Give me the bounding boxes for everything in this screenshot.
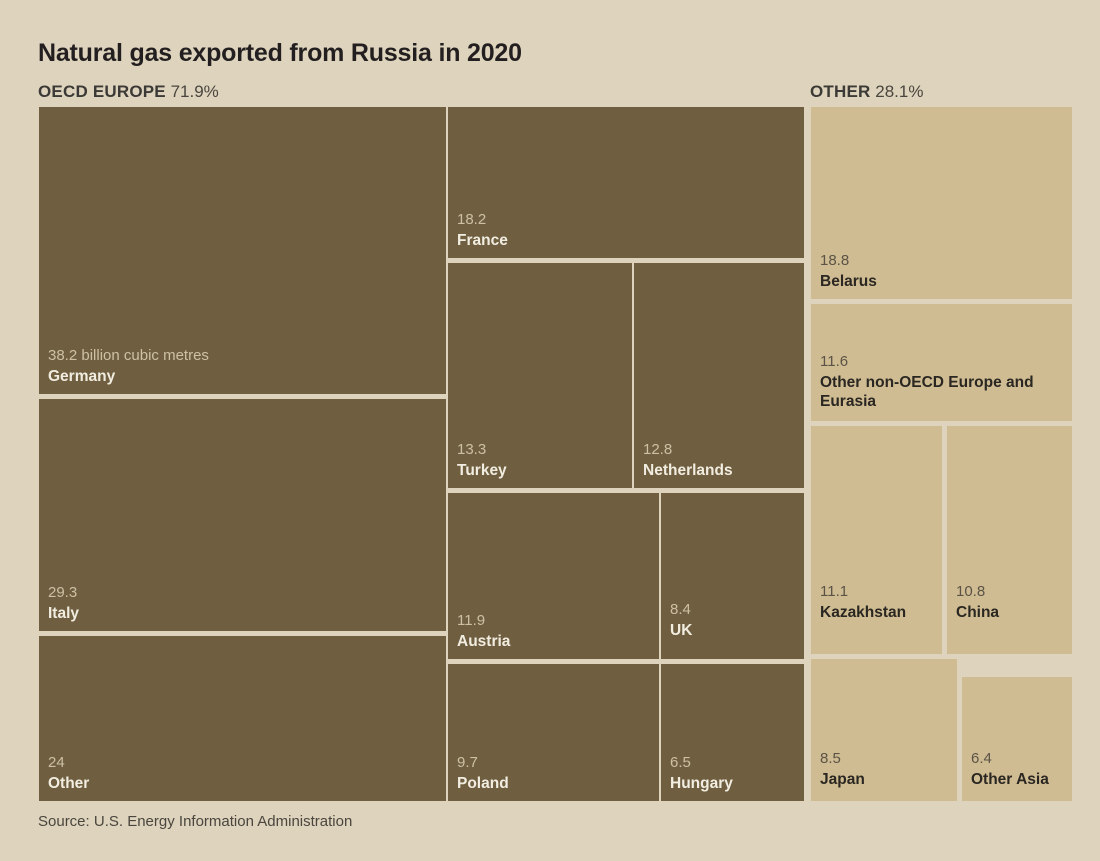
tile-name: UK [670,621,800,640]
tile-value: 10.8 [956,583,1068,602]
treemap-tile-kazakhstan[interactable]: 11.1 Kazakhstan [810,425,943,655]
treemap-tile-other-oecd-europe[interactable]: 24 Other [38,635,447,802]
treemap-tile-other-asia[interactable]: 6.4 Other Asia [961,676,1073,802]
source-note: Source: U.S. Energy Information Administ… [38,813,352,830]
treemap-tile-japan[interactable]: 8.5 Japan [810,658,958,802]
tile-value: 9.7 [457,754,655,773]
treemap-tile-other-non-oecd-europe-and-eurasia[interactable]: 11.6 Other non-OECD Europe and Eurasia [810,303,1073,422]
section-name-other: OTHER [810,82,871,101]
treemap-tile-turkey[interactable]: 13.3 Turkey [447,262,633,489]
tile-value: 11.6 [820,353,1068,372]
treemap-oecd-europe: 38.2 billion cubic metres Germany 29.3 I… [38,106,805,802]
tile-value: 8.5 [820,750,953,769]
tile-value: 6.4 [971,750,1068,769]
section-header-other: OTHER 28.1% [810,82,923,102]
tile-label-group: 11.6 Other non-OECD Europe and Eurasia [820,353,1068,411]
tile-value: 6.5 [670,754,800,773]
tile-name: France [457,231,800,250]
tile-value: 38.2 billion cubic metres [48,347,442,366]
tile-label-group: 13.3 Turkey [457,441,628,480]
tile-label-group: 11.1 Kazakhstan [820,583,938,622]
treemap-tile-uk[interactable]: 8.4 UK [660,492,805,660]
tile-name: Poland [457,774,655,793]
section-header-oecd-europe: OECD EUROPE 71.9% [38,82,219,102]
tile-value: 13.3 [457,441,628,460]
tile-name: Belarus [820,272,1068,291]
treemap-tile-italy[interactable]: 29.3 Italy [38,398,447,632]
tile-label-group: 24 Other [48,754,442,793]
tile-value: 18.2 [457,211,800,230]
treemap-tile-belarus[interactable]: 18.8 Belarus [810,106,1073,300]
tile-value: 8.4 [670,601,800,620]
tile-value: 18.8 [820,252,1068,271]
tile-label-group: 11.9 Austria [457,612,655,651]
treemap-tile-hungary[interactable]: 6.5 Hungary [660,663,805,802]
tile-name: Turkey [457,461,628,480]
treemap-other: 18.8 Belarus 11.6 Other non-OECD Europe … [810,106,1073,802]
treemap-tile-germany[interactable]: 38.2 billion cubic metres Germany [38,106,447,395]
tile-value: 11.1 [820,583,938,602]
tile-name: Austria [457,632,655,651]
tile-name: Other Asia [971,770,1068,789]
treemap-tile-austria[interactable]: 11.9 Austria [447,492,660,660]
tile-name: Other [48,774,442,793]
tile-label-group: 12.8 Netherlands [643,441,800,480]
tile-name: Italy [48,604,442,623]
tile-value: 11.9 [457,612,655,631]
treemap-tile-france[interactable]: 18.2 France [447,106,805,259]
tile-name: Netherlands [643,461,800,480]
tile-label-group: 9.7 Poland [457,754,655,793]
tile-name: Kazakhstan [820,603,938,622]
tile-name: Germany [48,367,442,386]
tile-label-group: 29.3 Italy [48,584,442,623]
tile-label-group: 8.4 UK [670,601,800,640]
tile-label-group: 8.5 Japan [820,750,953,789]
treemap-tile-poland[interactable]: 9.7 Poland [447,663,660,802]
tile-label-group: 6.5 Hungary [670,754,800,793]
section-percent-other: 28.1% [875,82,923,101]
section-percent-oecd-europe: 71.9% [171,82,219,101]
treemap-tile-netherlands[interactable]: 12.8 Netherlands [633,262,805,489]
tile-value: 12.8 [643,441,800,460]
tile-name: Other non-OECD Europe and Eurasia [820,373,1068,411]
section-name-oecd-europe: OECD EUROPE [38,82,166,101]
tile-name: Hungary [670,774,800,793]
treemap-tile-china[interactable]: 10.8 China [946,425,1073,655]
page-title: Natural gas exported from Russia in 2020 [38,39,522,68]
tile-label-group: 18.8 Belarus [820,252,1068,291]
tile-name: Japan [820,770,953,789]
tile-name: China [956,603,1068,622]
tile-value: 29.3 [48,584,442,603]
tile-label-group: 38.2 billion cubic metres Germany [48,347,442,386]
tile-label-group: 18.2 France [457,211,800,250]
tile-label-group: 10.8 China [956,583,1068,622]
tile-value: 24 [48,754,442,773]
tile-label-group: 6.4 Other Asia [971,750,1068,789]
